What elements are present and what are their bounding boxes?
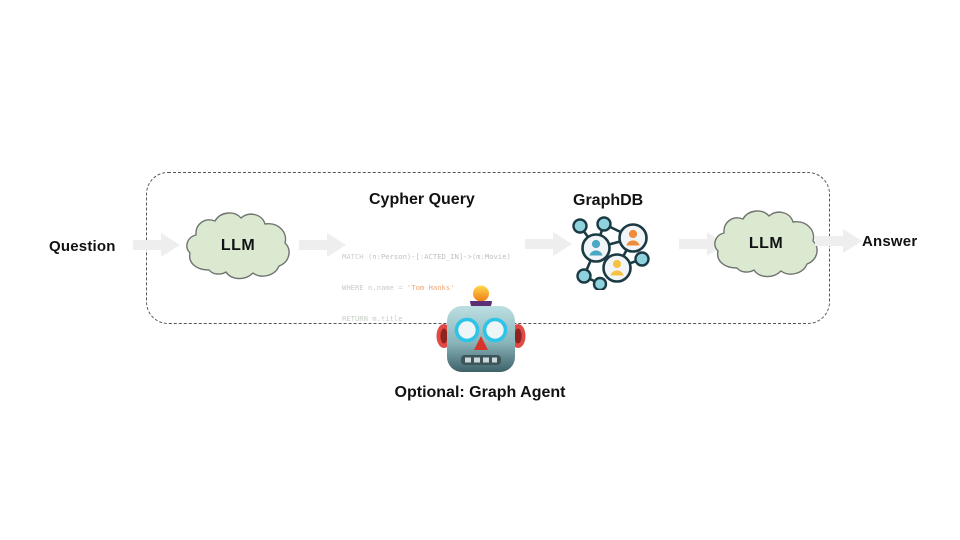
code-token-keyword: MATCH xyxy=(342,252,368,261)
block-arrow-icon xyxy=(815,228,863,254)
llm-node-1: LLM xyxy=(183,208,293,284)
block-arrow-icon xyxy=(299,232,347,258)
agent-caption: Optional: Graph Agent xyxy=(0,384,960,402)
robot-icon xyxy=(434,284,528,376)
llm-node-2-label: LLM xyxy=(711,235,821,253)
input-label: Question xyxy=(49,238,116,255)
block-arrow-icon xyxy=(525,231,573,257)
output-label: Answer xyxy=(862,233,917,250)
llm-node-1-label: LLM xyxy=(183,237,293,255)
graph-network-icon xyxy=(570,214,654,290)
code-line-1: MATCH (n:Person)-[:ACTED_IN]->(m:Movie) xyxy=(342,252,511,262)
code-token-keyword: RETURN xyxy=(342,314,372,323)
code-token-identifier: m.title xyxy=(372,314,402,323)
graphdb-title: GraphDB xyxy=(573,192,643,210)
code-token-identifier: n.name = xyxy=(368,283,407,292)
code-token-pattern: (n:Person)-[:ACTED_IN]->(m:Movie) xyxy=(368,252,511,261)
code-token-keyword: WHERE xyxy=(342,283,368,292)
llm-node-2: LLM xyxy=(711,206,821,282)
diagram-canvas: Question LLM Cypher Query MATCH (n:Perso… xyxy=(0,0,960,540)
cypher-query-title: Cypher Query xyxy=(369,191,475,209)
block-arrow-icon xyxy=(133,232,181,258)
